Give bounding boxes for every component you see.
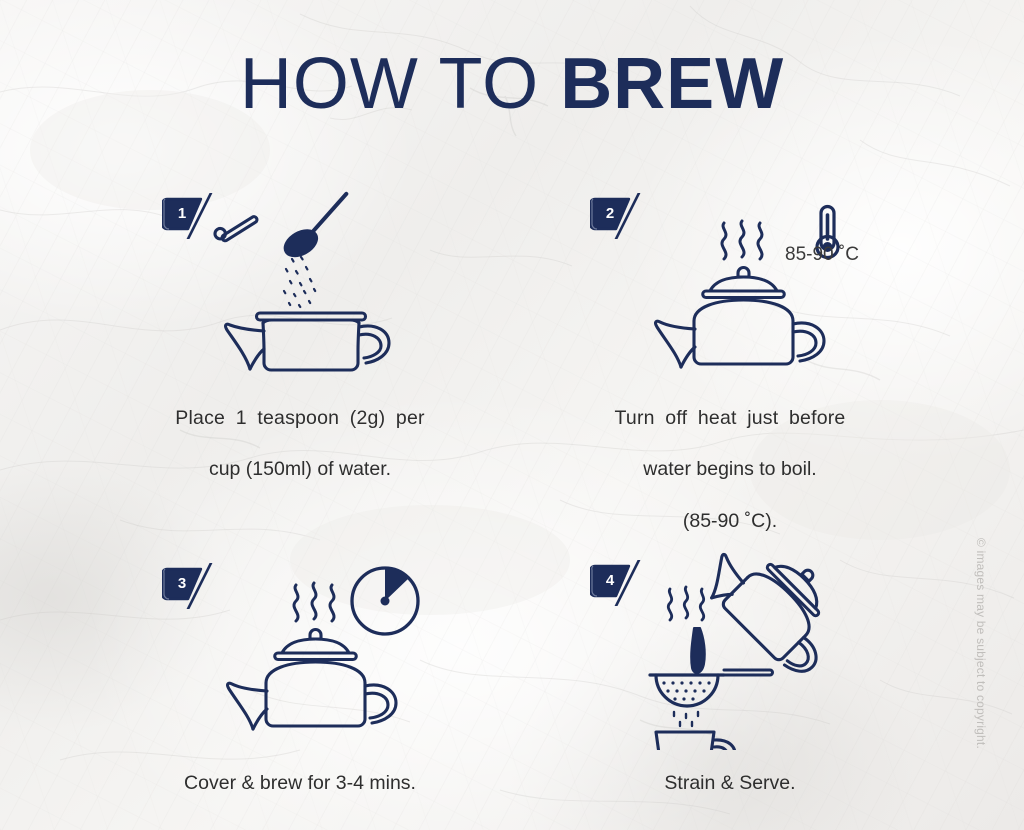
step-2-temperature-label: 85-90 ˚C xyxy=(785,244,859,266)
step-4-caption: Strain & Serve. xyxy=(580,745,880,822)
copyright-notice: © images may be subject to copyright. xyxy=(978,538,998,788)
step-2-caption-line-1: Turn off heat just before xyxy=(580,406,880,432)
step-1: 1 xyxy=(150,185,450,385)
step-2-caption-line-2: water begins to boil. xyxy=(580,457,880,483)
step-2: 2 xyxy=(580,185,880,385)
page-title: HOW TO BREW xyxy=(0,48,1024,120)
step-4-caption-line-1: Strain & Serve. xyxy=(580,771,880,797)
teapot-with-steam-and-thermometer-icon xyxy=(628,191,878,376)
step-3-caption: Cover & brew for 3-4 mins. xyxy=(150,745,450,822)
step-2-caption: Turn off heat just before water begins t… xyxy=(580,380,880,560)
copyright-text: © images may be subject to copyright. xyxy=(974,538,988,749)
step-3-caption-line-1: Cover & brew for 3-4 mins. xyxy=(150,771,450,797)
how-to-brew-infographic: HOW TO BREW 1 xyxy=(0,0,1024,830)
step-2-caption-line-3: (85-90 ˚C). xyxy=(580,509,880,535)
step-4: 4 xyxy=(580,548,880,758)
page-title-bold: BREW xyxy=(560,44,784,124)
teapot-with-steam-and-clock-icon xyxy=(200,559,440,739)
step-1-caption-line-1: Place 1 teaspoon (2g) per xyxy=(150,406,450,432)
teapot-with-spoon-and-lid-off-icon xyxy=(200,191,430,376)
step-1-caption: Place 1 teaspoon (2g) per cup (150ml) of… xyxy=(150,380,450,509)
step-1-caption-line-2: cup (150ml) of water. xyxy=(150,457,450,483)
page-title-light: HOW TO xyxy=(240,44,560,124)
pouring-teapot-strainer-and-cup-icon xyxy=(630,550,890,750)
step-3: 3 xyxy=(150,555,450,755)
